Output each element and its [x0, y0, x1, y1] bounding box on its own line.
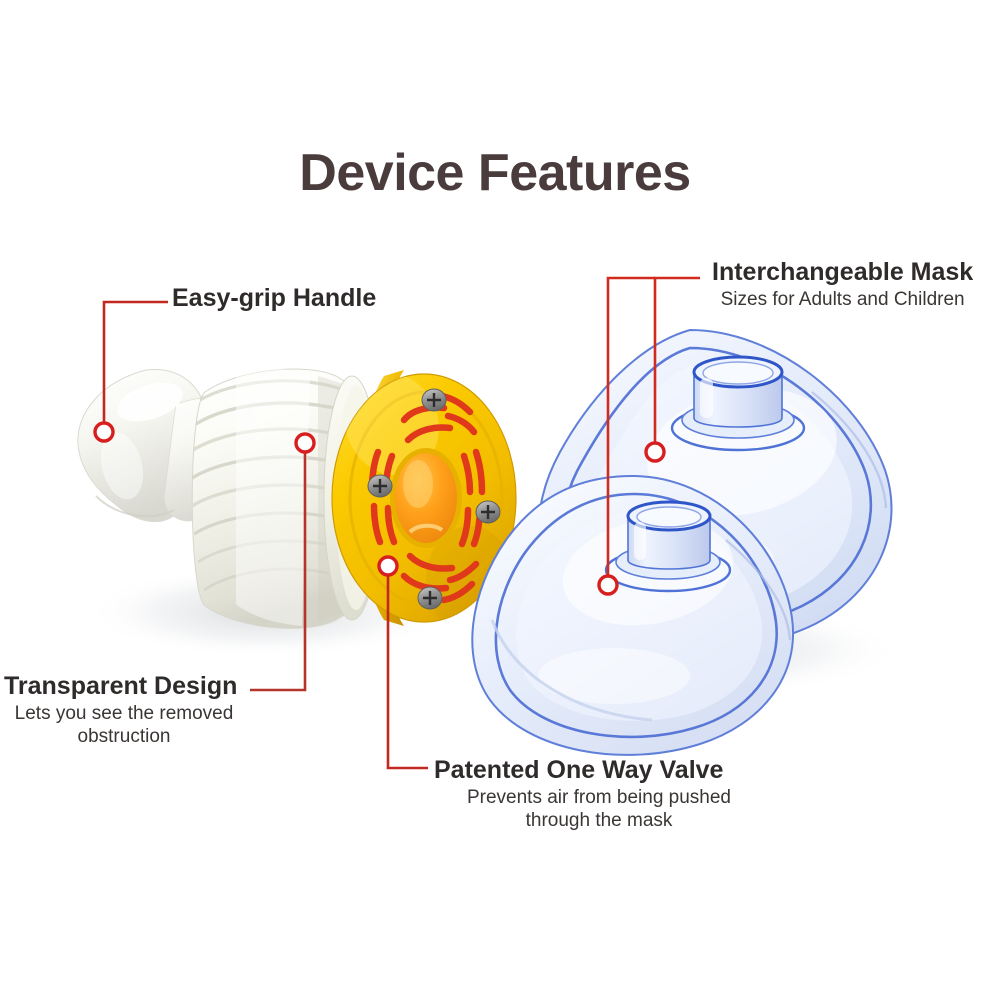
callout-transparent-design: Transparent Design Lets you see the remo…	[4, 672, 244, 748]
adult-mask-port	[694, 357, 782, 427]
interchangeable-masks	[472, 330, 891, 755]
orange-one-way-valve	[390, 448, 462, 548]
callout-heading-transparent: Transparent Design	[4, 672, 244, 700]
child-mask-port	[628, 502, 710, 569]
callout-heading-mask: Interchangeable Mask	[712, 258, 973, 286]
callout-heading-valve: Patented One Way Valve	[434, 756, 764, 784]
callout-sub-transparent-line2: obstruction	[4, 725, 244, 748]
callout-heading-handle: Easy-grip Handle	[172, 284, 376, 312]
infographic-page: Device Features	[0, 0, 990, 990]
callout-sub-mask: Sizes for Adults and Children	[712, 288, 973, 311]
callout-interchangeable-mask: Interchangeable Mask Sizes for Adults an…	[712, 258, 973, 311]
product-illustration	[0, 0, 990, 990]
callout-sub-transparent-line1: Lets you see the removed	[4, 702, 244, 725]
callout-sub-valve-line2: through the mask	[434, 809, 764, 832]
callout-easy-grip-handle: Easy-grip Handle	[172, 284, 376, 312]
callout-sub-valve-line1: Prevents air from being pushed	[434, 786, 764, 809]
callout-patented-one-way-valve: Patented One Way Valve Prevents air from…	[434, 756, 764, 832]
